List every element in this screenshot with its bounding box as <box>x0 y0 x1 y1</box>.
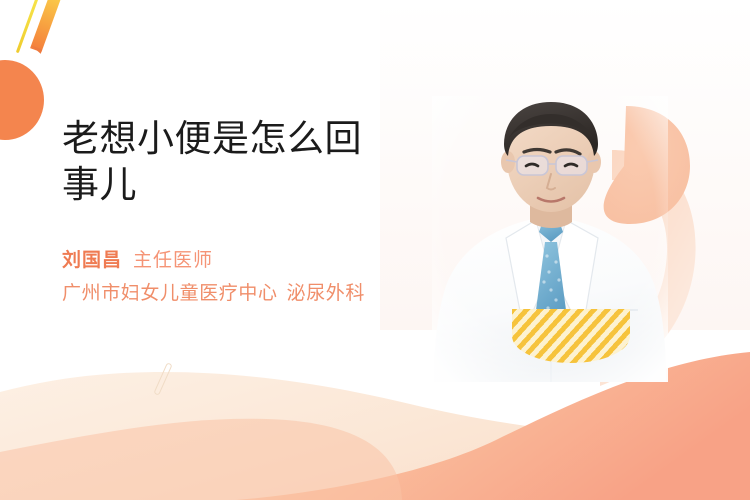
yellow-striped-half-circle-icon <box>512 309 630 363</box>
poster-text-block: 老想小便是怎么回 事儿 刘国昌 主任医师 广州市妇女儿童医疗中心泌尿外科 <box>62 116 422 307</box>
doctor-name-line: 刘国昌 主任医师 <box>62 247 422 274</box>
page-title: 老想小便是怎么回 事儿 <box>62 116 422 208</box>
doctor-name: 刘国昌 <box>62 247 122 274</box>
doctor-title: 主任医师 <box>133 247 213 274</box>
doctor-hospital: 广州市妇女儿童医疗中心 <box>62 283 278 304</box>
medical-health-poster: 老想小便是怎么回 事儿 刘国昌 主任医师 广州市妇女儿童医疗中心泌尿外科 <box>0 0 750 500</box>
doctor-affiliation-line: 广州市妇女儿童医疗中心泌尿外科 <box>62 280 422 307</box>
doctor-department: 泌尿外科 <box>287 283 365 304</box>
doctor-credentials: 刘国昌 主任医师 广州市妇女儿童医疗中心泌尿外科 <box>62 247 422 307</box>
